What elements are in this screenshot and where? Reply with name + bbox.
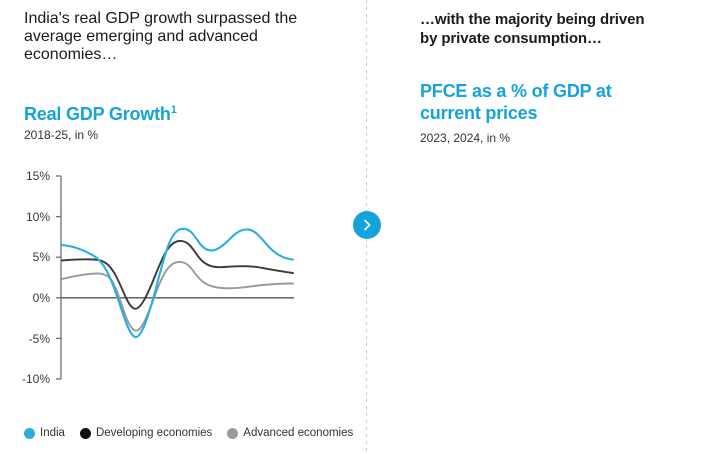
series-developing-economies-line [62,241,293,309]
ytick-15: 15% [26,169,50,183]
right-chart-subtitle: 2023, 2024, in % [420,131,510,146]
next-arrow-button[interactable] [353,211,381,239]
ytick-neg10: -10% [22,372,50,386]
left-chart-subtitle: 2018-25, in % [24,128,98,143]
ytick-10: 10% [26,210,50,224]
legend-dot-developing-icon [80,428,91,439]
y-axis-ticks [56,176,61,379]
chevron-right-icon [360,218,374,232]
series-india-line [62,229,293,337]
right-kicker-text: …with the majority being driven by priva… [420,10,650,48]
legend-dot-india-icon [24,428,35,439]
legend-item-developing-economies: Developing economies [80,427,212,439]
legend-item-india: India [24,427,65,439]
ytick-neg5: -5% [29,332,51,346]
right-chart-title: PFCE as a % of GDP at current prices [420,80,650,124]
right-panel: …with the majority being driven by priva… [378,0,720,454]
line-chart-legend: India Developing economies Advanced econ… [24,427,361,439]
ytick-0: 0% [33,291,51,305]
ytick-5: 5% [33,250,51,264]
legend-label-developing-economies: Developing economies [96,427,212,439]
left-chart-title-text: Real GDP Growth1 [24,104,177,124]
line-chart-svg: 15% 10% 5% 0% -5% -10% [0,160,356,410]
left-chart-title-footnote: 1 [171,104,177,116]
left-panel: India's real GDP growth surpassed the av… [0,0,356,454]
left-chart-title: Real GDP Growth1 [24,103,177,125]
legend-label-india: India [40,427,65,439]
legend-item-advanced-economies: Advanced economies [227,427,353,439]
y-axis-tick-labels: 15% 10% 5% 0% -5% -10% [22,169,50,386]
series-advanced-economies-line [62,262,293,331]
legend-dot-advanced-icon [227,428,238,439]
real-gdp-growth-line-chart: 15% 10% 5% 0% -5% -10% [0,160,356,410]
legend-label-advanced-economies: Advanced economies [243,427,353,439]
left-kicker-text: India's real GDP growth surpassed the av… [24,10,324,64]
